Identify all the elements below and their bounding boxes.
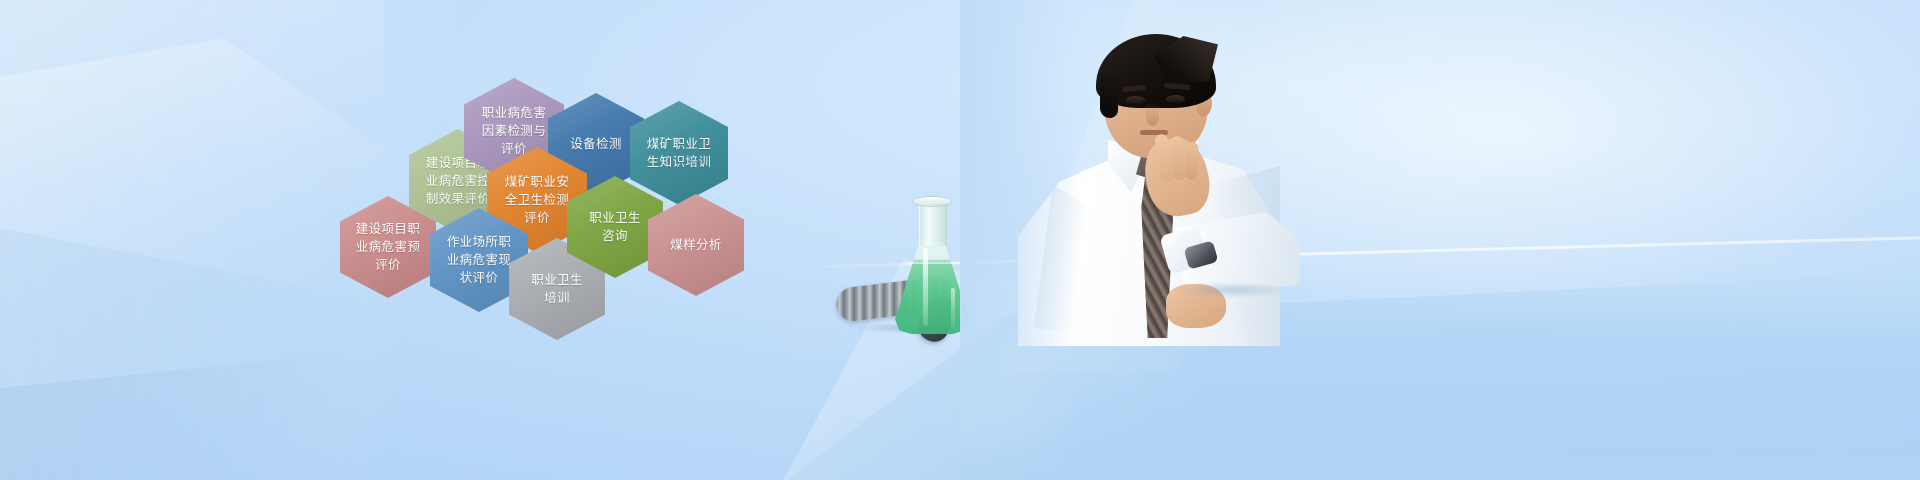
- banner-root: 建设项目职 业病危害预 评价建设项目职 业病危害控 制效果评价职业病危害 因素检…: [0, 0, 1920, 480]
- occupational-health-services-hex-cluster: 建设项目职 业病危害预 评价建设项目职 业病危害控 制效果评价职业病危害 因素检…: [0, 0, 1920, 480]
- hex-coal-sample-analysis-label: 煤样分析: [648, 236, 744, 254]
- hex-occupational-health-training-label: 职业卫生 培训: [509, 271, 605, 307]
- hex-coal-health-knowledge-training[interactable]: 煤矿职业卫 生知识培训: [630, 101, 728, 205]
- hex-coal-health-knowledge-training-label: 煤矿职业卫 生知识培训: [630, 135, 728, 171]
- hex-construction-pre-eval-label: 建设项目职 业病危害预 评价: [340, 220, 436, 273]
- hex-equipment-inspection-label: 设备检测: [548, 135, 644, 153]
